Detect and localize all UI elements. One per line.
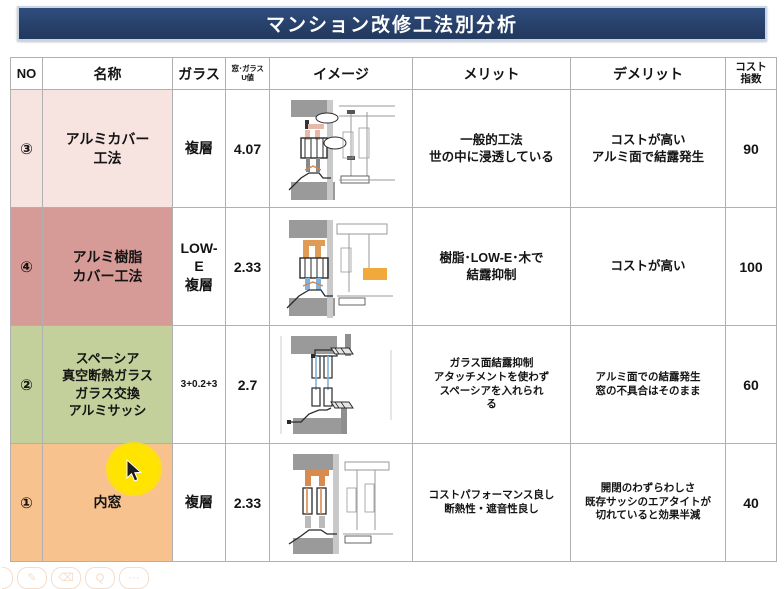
cell-cost: 40 [726, 444, 777, 562]
cell-glass: 複層 [173, 444, 226, 562]
cell-merit-line1: ガラス面結露抑制 [413, 357, 570, 371]
cell-merit-line1: 一般的工法 [413, 132, 570, 149]
cell-name: スペーシア 真空断熱ガラス ガラス交換 アルミサッシ [43, 326, 173, 444]
column-header-image: イメージ [270, 58, 413, 90]
cell-name-line1: スペーシア [43, 350, 172, 367]
cell-name-line4: アルミサッシ [43, 402, 172, 419]
cell-glass-line3: 複層 [173, 276, 225, 294]
column-header-merit: メリット [413, 58, 571, 90]
cell-uvalue: 2.7 [226, 326, 270, 444]
cell-demerit-line1: 開閉のわずらわしさ [571, 482, 725, 496]
cell-name-line1: アルミ樹脂 [43, 248, 172, 266]
cell-name-line3: ガラス交換 [43, 385, 172, 402]
table-row[interactable]: ② スペーシア 真空断熱ガラス ガラス交換 アルミサッシ 3+0.2+3 2.7 [11, 326, 777, 444]
cell-cost: 60 [726, 326, 777, 444]
cell-merit-line2: アタッチメントを使わず [413, 371, 570, 385]
column-header-no: NO [11, 58, 43, 90]
cell-demerit-line2: 窓の不具合はそのまま [571, 385, 725, 399]
pen-icon[interactable]: ✎ [17, 567, 47, 589]
table-row[interactable]: ① 内窓 複層 2.33 [11, 444, 777, 562]
cell-demerit: コストが高い アルミ面で結露発生 [571, 90, 726, 208]
cell-name: アルミカバー 工法 [43, 90, 173, 208]
toolbar-left-edge [2, 567, 13, 589]
window-section-spacia-glass-icon [270, 329, 412, 441]
column-header-cost-line1: コスト [726, 62, 776, 74]
cell-merit: 一般的工法 世の中に浸透している [413, 90, 571, 208]
column-header-cost: コスト 指数 [726, 58, 777, 90]
cell-glass-line1: LOW- [173, 239, 225, 257]
cell-demerit: アルミ面での結露発生 窓の不具合はそのまま [571, 326, 726, 444]
cell-image [270, 444, 413, 562]
cell-name-line2: 真空断熱ガラス [43, 367, 172, 384]
column-header-uvalue: 窓･ガラス U値 [226, 58, 270, 90]
cell-name-line1: 内窓 [43, 493, 172, 511]
cell-name-line2: 工法 [43, 149, 172, 167]
cell-demerit: コストが高い [571, 208, 726, 326]
cell-image [270, 208, 413, 326]
cell-name: アルミ樹脂 カバー工法 [43, 208, 173, 326]
bottom-toolbar[interactable]: ✎ ⌫ Q ⋯ [0, 566, 192, 589]
eraser-icon[interactable]: ⌫ [51, 567, 81, 589]
cell-demerit-line1: コストが高い [571, 132, 725, 149]
cell-merit-line3: スペーシアを入れられ [413, 385, 570, 399]
cell-merit-line1: コストパフォーマンス良し [413, 489, 570, 503]
cell-demerit-line1: アルミ面での結露発生 [571, 371, 725, 385]
cell-uvalue: 2.33 [226, 444, 270, 562]
cell-no: ③ [11, 90, 43, 208]
cell-cost: 90 [726, 90, 777, 208]
column-header-uvalue-line2: U値 [226, 74, 269, 83]
column-header-cost-line2: 指数 [726, 74, 776, 86]
cell-image [270, 326, 413, 444]
cell-no: ② [11, 326, 43, 444]
zoom-icon[interactable]: Q [85, 567, 115, 589]
column-header-demerit: デメリット [571, 58, 726, 90]
cell-merit-line1: 樹脂･LOW-E･木で [413, 250, 570, 267]
cell-glass-line2: E [173, 257, 225, 275]
renovation-method-comparison-table: NO 名称 ガラス 窓･ガラス U値 イメージ メリット デメリット コスト 指… [10, 57, 777, 562]
cell-merit-line4: る [413, 398, 570, 412]
cell-merit: コストパフォーマンス良し 断熱性・遮音性良し [413, 444, 571, 562]
cell-merit: 樹脂･LOW-E･木で 結露抑制 [413, 208, 571, 326]
cell-name: 内窓 [43, 444, 173, 562]
cell-demerit: 開閉のわずらわしさ 既存サッシのエアタイトが 切れていると効果半減 [571, 444, 726, 562]
window-section-inner-window-icon [270, 447, 412, 559]
table-header-row: NO 名称 ガラス 窓･ガラス U値 イメージ メリット デメリット コスト 指… [11, 58, 777, 90]
cell-demerit-line2: 既存サッシのエアタイトが [571, 496, 725, 510]
cell-name-line1: アルミカバー [43, 130, 172, 148]
cell-image [270, 90, 413, 208]
page-title: マンション改修工法別分析 [266, 10, 518, 37]
cell-merit-line2: 断熱性・遮音性良し [413, 503, 570, 517]
cell-no: ① [11, 444, 43, 562]
cell-cost: 100 [726, 208, 777, 326]
table-row[interactable]: ④ アルミ樹脂 カバー工法 LOW- E 複層 2.33 [11, 208, 777, 326]
window-section-resin-cover-icon [270, 211, 412, 323]
cell-name-line2: カバー工法 [43, 267, 172, 285]
more-icon[interactable]: ⋯ [119, 567, 149, 589]
cell-glass: 3+0.2+3 [173, 326, 226, 444]
window-section-aluminum-cover-icon [270, 93, 412, 205]
cell-glass: LOW- E 複層 [173, 208, 226, 326]
table-row[interactable]: ③ アルミカバー 工法 複層 4.07 [11, 90, 777, 208]
column-header-name: 名称 [43, 58, 173, 90]
cell-merit: ガラス面結露抑制 アタッチメントを使わず スペーシアを入れられ る [413, 326, 571, 444]
cell-demerit-line3: 切れていると効果半減 [571, 509, 725, 523]
cell-merit-line2: 世の中に浸透している [413, 149, 570, 166]
cell-glass: 複層 [173, 90, 226, 208]
cell-merit-line2: 結露抑制 [413, 267, 570, 284]
cell-no: ④ [11, 208, 43, 326]
slide-title-bar: マンション改修工法別分析 [17, 6, 767, 41]
cell-demerit-line1: コストが高い [571, 258, 725, 275]
cell-uvalue: 4.07 [226, 90, 270, 208]
cell-demerit-line2: アルミ面で結露発生 [571, 149, 725, 166]
column-header-glass: ガラス [173, 58, 226, 90]
cell-uvalue: 2.33 [226, 208, 270, 326]
